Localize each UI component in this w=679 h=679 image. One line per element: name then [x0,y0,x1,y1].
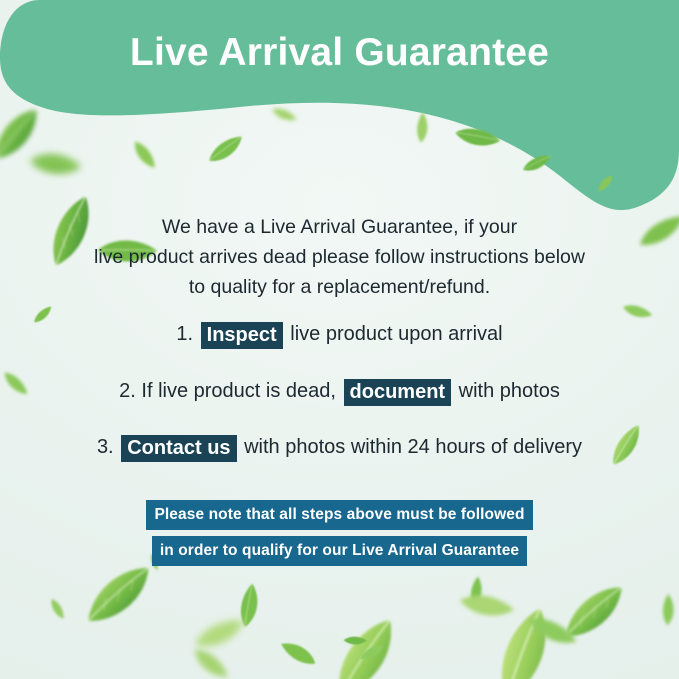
step-1-after-text: live product upon arrival [290,323,502,345]
intro-line-2: live product arrives dead please follow … [70,242,610,272]
intro-line-1: We have a Live Arrival Guarantee, if you… [70,212,610,242]
intro-paragraph: We have a Live Arrival Guarantee, if you… [70,212,610,302]
step-item-3: 3. Contact us with photos within 24 hour… [0,433,679,461]
note-line-1: Please note that all steps above must be… [146,500,532,530]
step-2-highlight[interactable]: document [344,379,452,406]
intro-line-3: to quality for a replacement/refund. [70,272,610,302]
step-1-number: 1. [176,323,193,345]
step-1-highlight[interactable]: Inspect [201,322,283,349]
note-line-2: in order to qualify for our Live Arrival… [152,536,527,566]
step-3-after-text: with photos within 24 hours of delivery [244,436,582,458]
note-banner: Please note that all steps above must be… [140,500,540,566]
step-2-number: 2. [119,380,136,402]
step-2-before-text: If live product is dead, [141,380,336,402]
step-2-after-text: with photos [459,380,560,402]
step-3-highlight[interactable]: Contact us [121,435,236,462]
content-container: We have a Live Arrival Guarantee, if you… [0,0,679,679]
step-item-1: 1. Inspect live product upon arrival [0,320,679,348]
steps-list: 1. Inspect live product upon arrival 2. … [0,320,679,489]
step-3-number: 3. [97,436,114,458]
live-arrival-guarantee-poster: Live Arrival Guarantee [0,0,679,679]
step-item-2: 2. If live product is dead, document wit… [0,377,679,405]
